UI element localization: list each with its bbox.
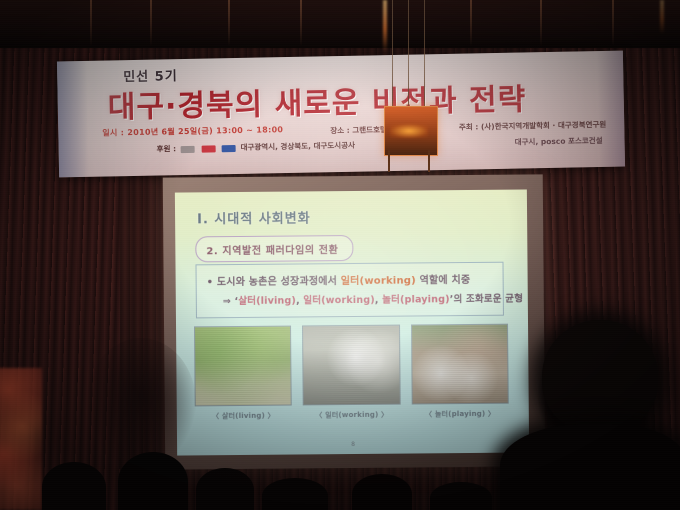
slide-subtitle: 2. 지역발전 패러다임의 전환 — [206, 245, 338, 257]
slide-bullet-2: ⇒ ‘살터(living), 일터(working), 놀터(playing)’… — [223, 291, 523, 308]
audience-head-silhouette — [196, 468, 254, 510]
audience-head-silhouette — [262, 478, 328, 510]
foreground-shoulders-silhouette — [500, 424, 680, 510]
slide-photo-cell: 〈 놀터(playing) 〉 — [411, 324, 509, 421]
presentation-slide: I. 시대적 사회변화 2. 지역발전 패러다임의 전환 • 도시와 농촌은 성… — [175, 189, 529, 455]
bullet-2-highlight-playing: 놀터(playing) — [382, 294, 450, 306]
sponsor-logo-icon — [201, 145, 215, 152]
audience-head-silhouette — [430, 482, 492, 510]
slide-title: I. 시대적 사회변화 — [197, 207, 311, 227]
banner-main-title: 대구·경북의 새로운 비전과 전략 — [107, 73, 618, 127]
banner-support-secondary: 대구시, posco 포스코건설 — [515, 135, 603, 148]
sponsor-logo-icon — [181, 145, 195, 152]
flower-arrangement — [0, 368, 42, 510]
bullet-1-prefix: • 도시와 농촌은 성장과정에서 — [207, 276, 341, 288]
slide-content-box: • 도시와 농촌은 성장과정에서 일터(working) 역할에 치중 ⇒ ‘살… — [195, 262, 503, 319]
slide-subtitle-pill: 2. 지역발전 패러다임의 전환 — [195, 235, 353, 262]
sponsor-logo-icon — [222, 145, 236, 152]
audience-head-silhouette — [118, 452, 188, 510]
bullet-2-highlight-living: 살터(living) — [238, 296, 296, 308]
stage-lamp-icon — [660, 0, 664, 34]
slide-bullet-1: • 도시와 농촌은 성장과정에서 일터(working) 역할에 치중 — [207, 271, 471, 288]
foreground-head-silhouette — [542, 320, 658, 432]
banner-edge-left — [57, 61, 89, 178]
slide-photo-caption: 〈 살터(living) 〉 — [195, 411, 292, 422]
banner-support: 후원 : 대구광역시, 경상북도, 대구도시공사 — [157, 140, 356, 155]
bullet-1-suffix: 역할에 치중 — [416, 275, 470, 286]
bullet-2-highlight-working: 일터(working) — [303, 295, 375, 307]
banner-support-label: 후원 : — [157, 144, 177, 153]
slide-page-number: 8 — [351, 441, 355, 448]
slide-photo-caption: 〈 놀터(playing) 〉 — [411, 409, 508, 420]
bullet-1-highlight: 일터(working) — [341, 275, 416, 287]
slide-photo-playing — [411, 324, 509, 405]
slide-photo-row: 〈 살터(living) 〉 〈 일터(working) 〉 〈 놀터(play… — [194, 324, 509, 423]
banner-datetime: 일시 : 2010년 6월 25일(금) 13:00 ~ 18:00 — [102, 124, 283, 138]
shadow-on-curtain — [86, 338, 196, 468]
bullet-2-suffix: ’의 조화로운 균형 — [450, 294, 523, 306]
slide-photo-caption: 〈 일터(working) 〉 — [303, 410, 400, 421]
slide-photo-working — [302, 325, 400, 406]
banner-support-orgs: 대구광역시, 경상북도, 대구도시공사 — [240, 141, 355, 152]
slide-photo-cell: 〈 일터(working) 〉 — [302, 325, 400, 422]
conference-hall-photo: 민선 5기 대구·경북의 새로운 비전과 전략 일시 : 2010년 6월 25… — [0, 0, 680, 510]
event-banner: 민선 5기 대구·경북의 새로운 비전과 전략 일시 : 2010년 6월 25… — [57, 51, 625, 178]
audience-head-silhouette — [42, 462, 106, 510]
ceiling-rigging — [0, 0, 680, 48]
bullet-2-sep-1: , — [296, 295, 303, 306]
projection-screen: I. 시대적 사회변화 2. 지역발전 패러다임의 전환 • 도시와 농촌은 성… — [163, 174, 546, 469]
slide-photo-cell: 〈 살터(living) 〉 — [194, 326, 292, 423]
projector-lens-glow — [390, 124, 428, 138]
banner-host: 주최 : (사)한국지역개발학회 · 대구경북연구원 — [459, 119, 607, 133]
projector-rig — [378, 0, 438, 170]
bullet-2-prefix: ⇒ ‘ — [223, 296, 239, 307]
audience-head-silhouette — [352, 474, 412, 510]
slide-photo-living — [194, 326, 292, 407]
